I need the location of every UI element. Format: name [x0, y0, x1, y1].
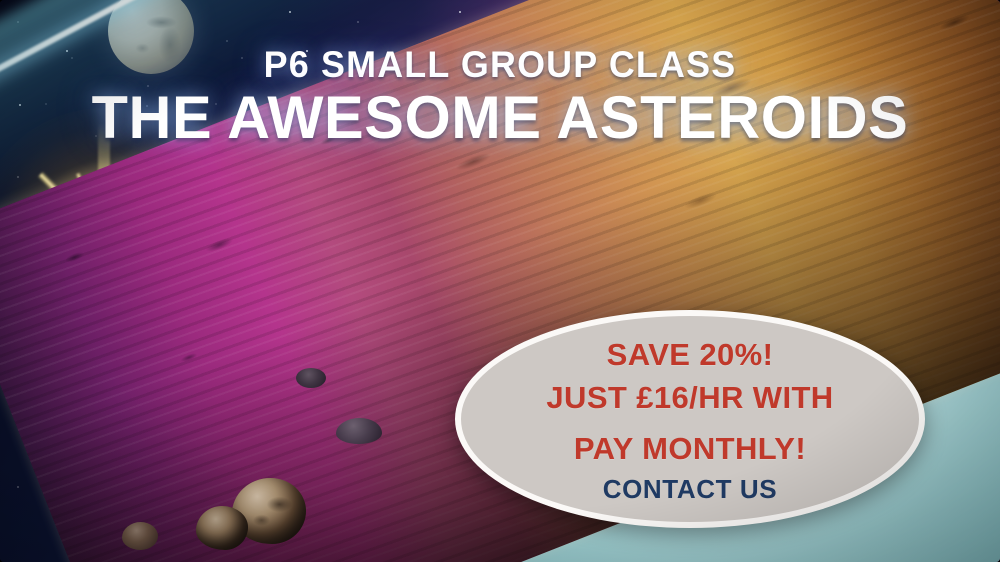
boulder-3: [122, 522, 158, 550]
boulder-4: [296, 368, 326, 388]
offer-badge[interactable]: SAVE 20%! JUST £16/HR WITH PAY MONTHLY! …: [455, 310, 925, 528]
contact-us-button[interactable]: CONTACT US: [603, 476, 778, 502]
boulder-5: [336, 418, 382, 444]
headline-block: P6 SMALL GROUP CLASS THE AWESOME ASTEROI…: [0, 46, 1000, 148]
offer-line-save: SAVE 20%!: [607, 339, 774, 370]
boulder-2: [196, 506, 248, 550]
offer-line-pay-monthly: PAY MONTHLY!: [574, 433, 806, 464]
page-title: THE AWESOME ASTEROIDS: [5, 87, 995, 148]
offer-line-price: JUST £16/HR WITH: [546, 382, 833, 413]
poster-canvas: P6 SMALL GROUP CLASS THE AWESOME ASTEROI…: [0, 0, 1000, 562]
class-kicker: P6 SMALL GROUP CLASS: [15, 46, 985, 83]
